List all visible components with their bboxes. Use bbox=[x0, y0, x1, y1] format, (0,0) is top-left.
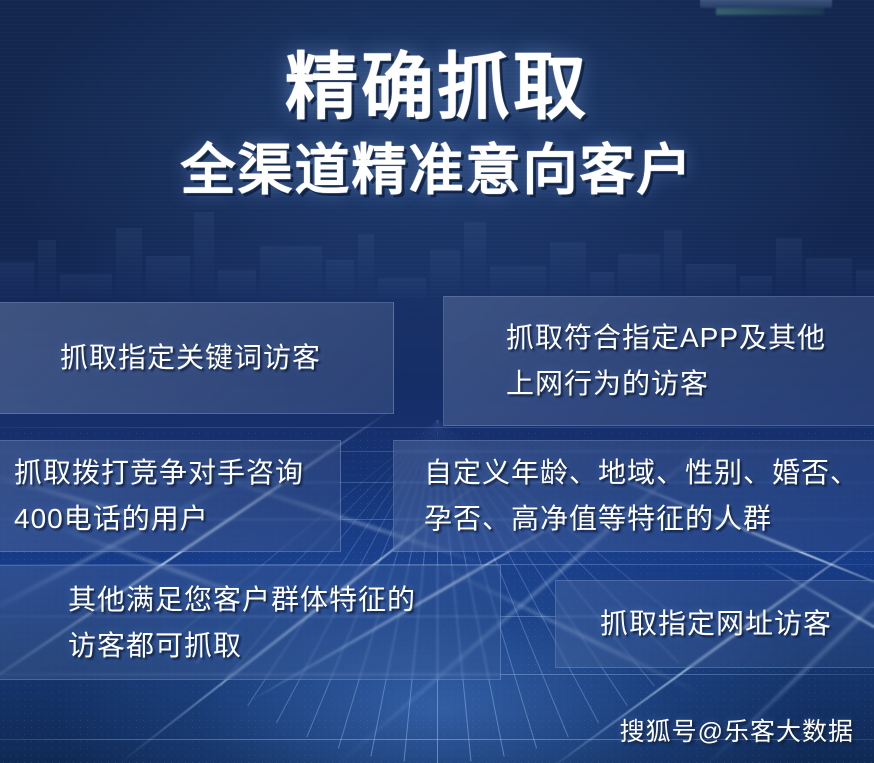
text-line-0: 抓取符合指定APP及其他 bbox=[506, 315, 874, 361]
text-line-1: 访客都可抓取 bbox=[68, 623, 500, 669]
feature-card-other-traits[interactable]: 其他满足您客户群体特征的访客都可抓取 bbox=[0, 565, 501, 680]
feature-card-app-behavior[interactable]: 抓取符合指定APP及其他上网行为的访客 bbox=[443, 296, 874, 426]
text-line-0: 抓取指定网址访客 bbox=[600, 601, 874, 647]
feature-card-competitor-400-text: 抓取拨打竞争对手咨询400电话的用户 bbox=[14, 450, 340, 542]
text-line-0: 其他满足您客户群体特征的 bbox=[68, 577, 500, 623]
feature-card-keyword-text: 抓取指定关键词访客 bbox=[60, 335, 393, 381]
feature-card-app-behavior-text: 抓取符合指定APP及其他上网行为的访客 bbox=[506, 315, 874, 407]
text-line-1: 上网行为的访客 bbox=[506, 361, 874, 407]
feature-card-custom-demographics[interactable]: 自定义年龄、地域、性别、婚否、孕否、高净值等特征的人群 bbox=[393, 440, 874, 552]
page-title: 精确抓取 bbox=[0, 46, 874, 130]
feature-card-other-traits-text: 其他满足您客户群体特征的访客都可抓取 bbox=[68, 577, 500, 669]
text-line-0: 抓取指定关键词访客 bbox=[60, 335, 393, 381]
text-line-0: 自定义年龄、地域、性别、婚否、 bbox=[424, 450, 874, 496]
text-line-1: 孕否、高净值等特征的人群 bbox=[424, 496, 874, 542]
feature-card-url-text: 抓取指定网址访客 bbox=[600, 601, 874, 647]
source-watermark: 搜狐号@乐客大数据 bbox=[620, 717, 854, 747]
heading-block: 精确抓取 全渠道精准意向客户 bbox=[0, 46, 874, 202]
feature-card-url[interactable]: 抓取指定网址访客 bbox=[555, 580, 874, 668]
cropped-top-element-secondary bbox=[716, 8, 824, 15]
feature-card-keyword[interactable]: 抓取指定关键词访客 bbox=[0, 302, 394, 414]
text-line-0: 抓取拨打竞争对手咨询 bbox=[14, 450, 340, 496]
page-subtitle: 全渠道精准意向客户 bbox=[0, 138, 874, 202]
cropped-top-element bbox=[700, 0, 832, 8]
feature-card-competitor-400[interactable]: 抓取拨打竞争对手咨询400电话的用户 bbox=[0, 440, 341, 552]
text-line-1: 400电话的用户 bbox=[14, 496, 340, 542]
feature-card-custom-demographics-text: 自定义年龄、地域、性别、婚否、孕否、高净值等特征的人群 bbox=[424, 450, 874, 542]
promotional-poster: 精确抓取 全渠道精准意向客户 抓取指定关键词访客 抓取符合指定APP及其他上网行… bbox=[0, 0, 874, 763]
